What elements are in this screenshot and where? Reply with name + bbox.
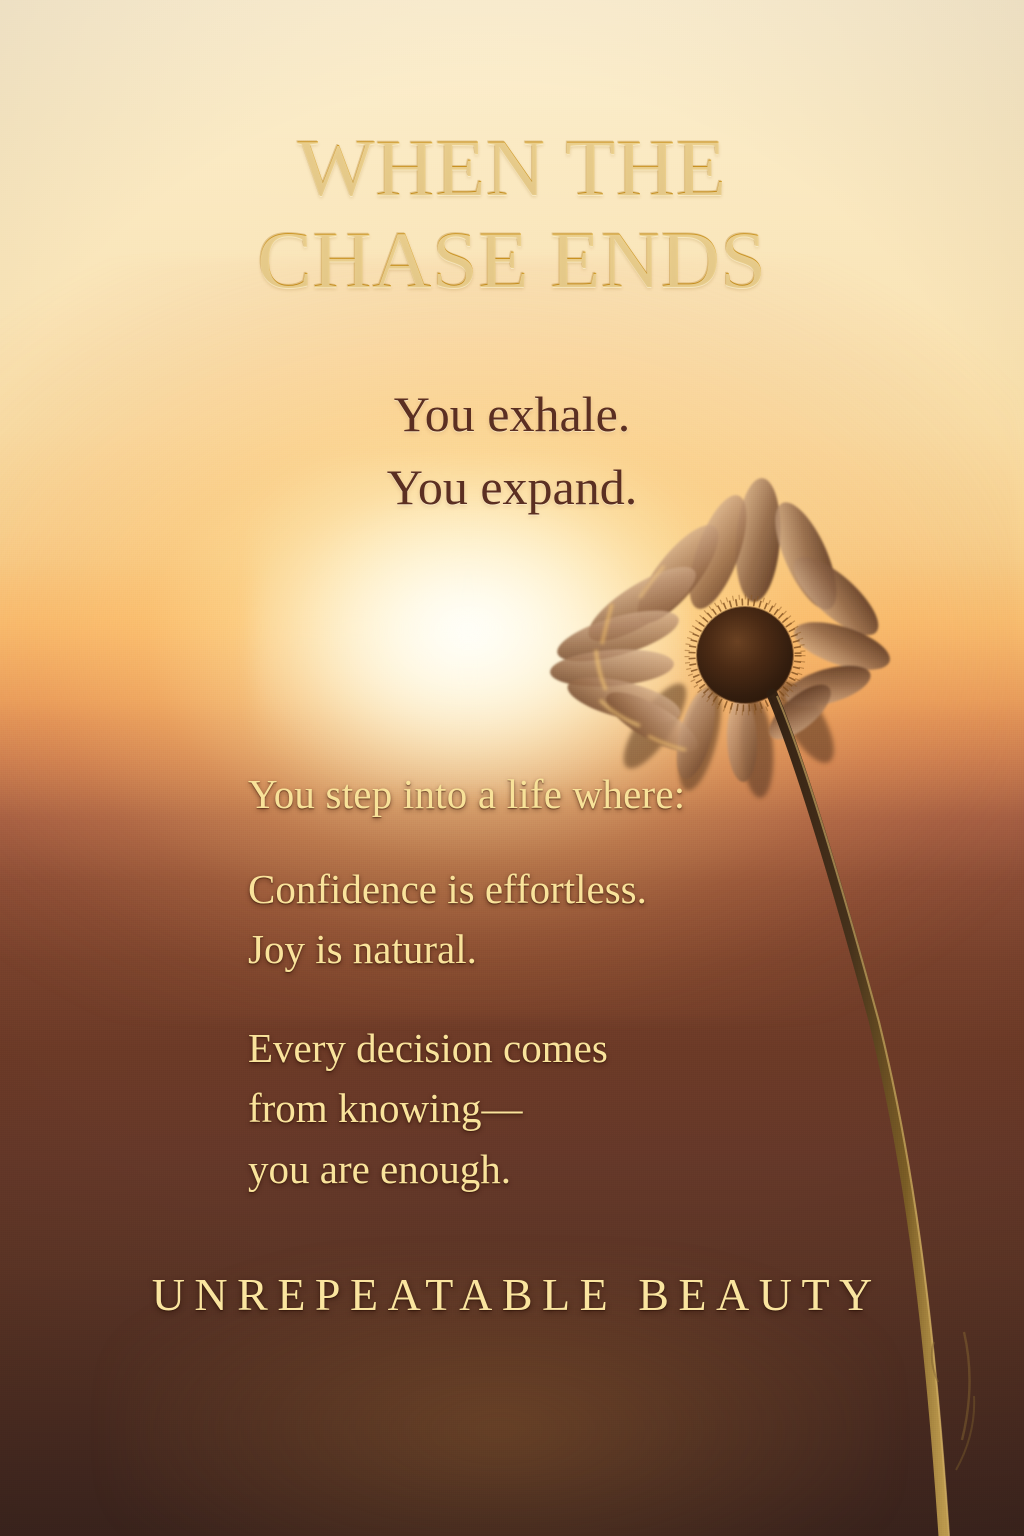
closing-block: Every decision comes from knowing— you a… — [248, 1018, 608, 1199]
poster-subtitle: You exhale. You expand. — [0, 378, 1024, 523]
lead-in-line: You step into a life where: — [248, 770, 685, 819]
title-line-1: WHEN THE — [0, 122, 1024, 214]
brand-wordmark: UNREPEATABLE BEAUTY — [0, 1268, 1024, 1321]
benefit-line-2: Joy is natural. — [248, 920, 647, 980]
benefits-block: Confidence is effortless. Joy is natural… — [248, 860, 647, 980]
closing-line-3: you are enough. — [248, 1139, 608, 1199]
subtitle-line-1: You exhale. — [0, 378, 1024, 451]
closing-line-1: Every decision comes — [248, 1018, 608, 1078]
title-line-2: CHASE ENDS — [0, 214, 1024, 306]
subtitle-line-2: You expand. — [0, 451, 1024, 524]
poster-title: WHEN THE CHASE ENDS — [0, 122, 1024, 306]
closing-line-2: from knowing— — [248, 1078, 608, 1138]
benefit-line-1: Confidence is effortless. — [248, 860, 647, 920]
poster-canvas: WHEN THE CHASE ENDS You exhale. You expa… — [0, 0, 1024, 1536]
text-layer: WHEN THE CHASE ENDS You exhale. You expa… — [0, 0, 1024, 1536]
